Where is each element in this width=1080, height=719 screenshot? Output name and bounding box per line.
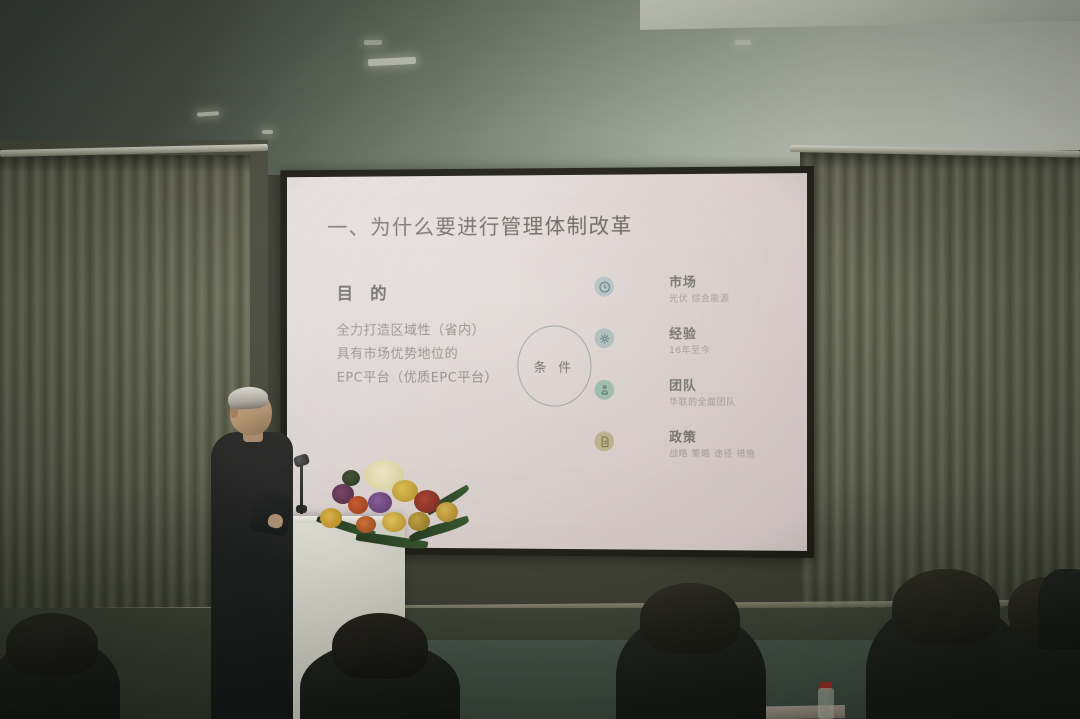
flower — [368, 492, 392, 513]
ceiling-light — [735, 40, 751, 45]
condition-subtitle: 16年至今 — [669, 343, 710, 356]
presentation-photo-scene: 一、为什么要进行管理体制改革 目 的 全力打造区域性（省内） 具有市场优势地位的… — [0, 0, 1080, 719]
flower — [408, 512, 430, 531]
flower — [436, 502, 458, 522]
condition-subtitle: 光伏 综合能源 — [669, 291, 729, 304]
floral-arrangement — [312, 450, 468, 568]
speaker-arm — [249, 487, 293, 536]
audience-head — [6, 613, 98, 675]
audience-head — [332, 613, 428, 679]
audience-head — [640, 583, 740, 653]
purpose-body: 全力打造区域性（省内） 具有市场优势地位的 EPC平台（优质EPC平台） — [337, 319, 498, 390]
network-icon — [594, 328, 614, 348]
flower — [356, 516, 376, 533]
condition-title: 团队 — [669, 375, 697, 394]
condition-circle: 条 件 — [517, 325, 591, 406]
audience-member — [1038, 569, 1080, 649]
flower — [382, 512, 406, 532]
condition-list: 市场 光伏 综合能源 经验 16年至今 — [594, 271, 802, 479]
purpose-heading: 目 的 — [337, 280, 393, 305]
purpose-line: EPC平台（优质EPC平台） — [337, 366, 498, 390]
clock-icon — [594, 277, 614, 297]
ceiling-light — [364, 40, 382, 45]
audience-head — [892, 569, 1000, 645]
flower — [348, 496, 368, 514]
curtain-header — [0, 155, 250, 173]
curtain-right — [800, 152, 1080, 622]
flower — [320, 508, 342, 528]
condition-item-experience: 经验 16年至今 — [594, 323, 802, 375]
document-icon — [594, 431, 614, 451]
condition-item-market: 市场 光伏 综合能源 — [594, 271, 802, 323]
foliage — [342, 470, 360, 486]
condition-subtitle: 华联的全面团队 — [669, 395, 735, 408]
purpose-line: 全力打造区域性（省内） — [337, 319, 498, 343]
ceiling-light — [262, 130, 273, 134]
condition-title: 政策 — [669, 427, 697, 446]
speaker-body — [211, 432, 293, 719]
microphone-stem — [300, 462, 303, 514]
condition-item-team: 团队 华联的全面团队 — [594, 375, 802, 427]
water-bottle — [818, 688, 834, 719]
condition-title: 市场 — [669, 271, 697, 290]
team-icon — [594, 380, 614, 400]
condition-subtitle: 战略 策略 途径 措施 — [669, 446, 755, 459]
condition-item-policy: 政策 战略 策略 途径 措施 — [594, 426, 802, 479]
slide-title: 一、为什么要进行管理体制改革 — [327, 210, 633, 241]
purpose-line: 具有市场优势地位的 — [337, 342, 498, 366]
condition-title: 经验 — [669, 323, 697, 342]
